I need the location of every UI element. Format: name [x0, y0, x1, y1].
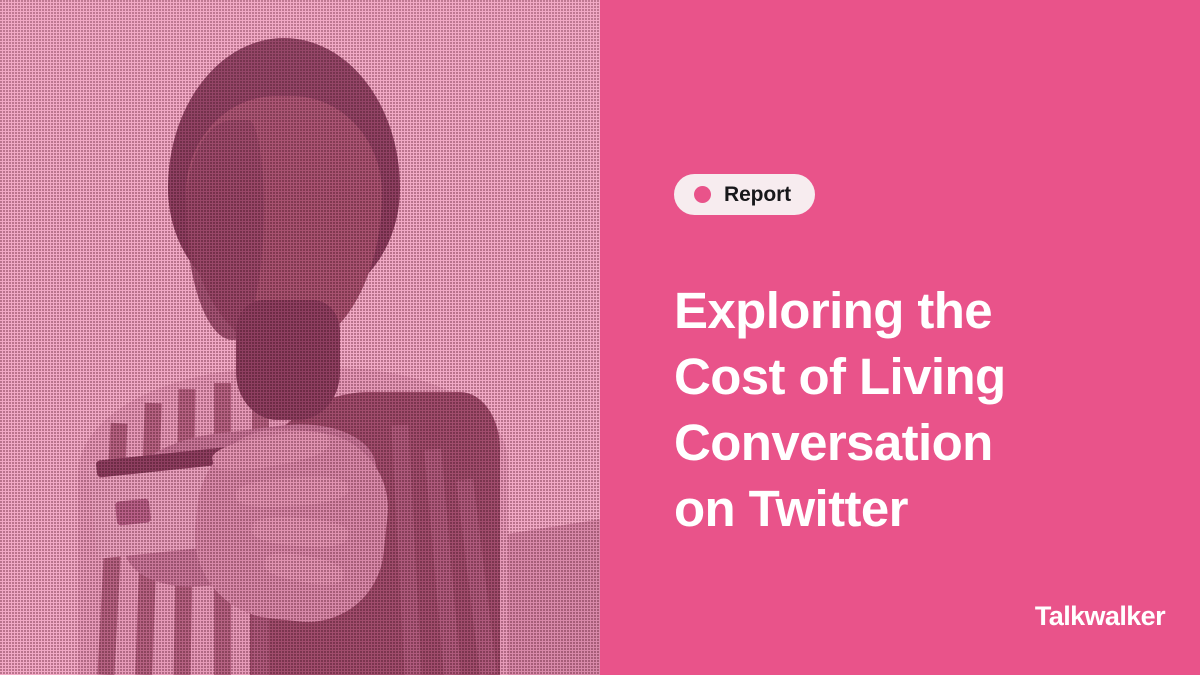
page-title-line: Cost of Living: [674, 344, 1174, 410]
page-title: Exploring the Cost of Living Conversatio…: [674, 278, 1174, 542]
talkwalker-logo: Talkwalker: [1035, 603, 1165, 630]
text-panel: Report Exploring the Cost of Living Conv…: [600, 0, 1200, 675]
card-chip-shape: [115, 498, 151, 525]
report-cover: Report Exploring the Cost of Living Conv…: [0, 0, 1200, 675]
page-title-line: Conversation: [674, 410, 1174, 476]
report-badge-label: Report: [724, 184, 791, 205]
photo-panel: [0, 0, 600, 675]
photo-subject: [0, 0, 600, 675]
dot-icon: [694, 186, 711, 203]
report-badge: Report: [674, 174, 815, 215]
page-title-line: on Twitter: [674, 476, 1174, 542]
page-title-line: Exploring the: [674, 278, 1174, 344]
neck-shape: [236, 300, 340, 420]
